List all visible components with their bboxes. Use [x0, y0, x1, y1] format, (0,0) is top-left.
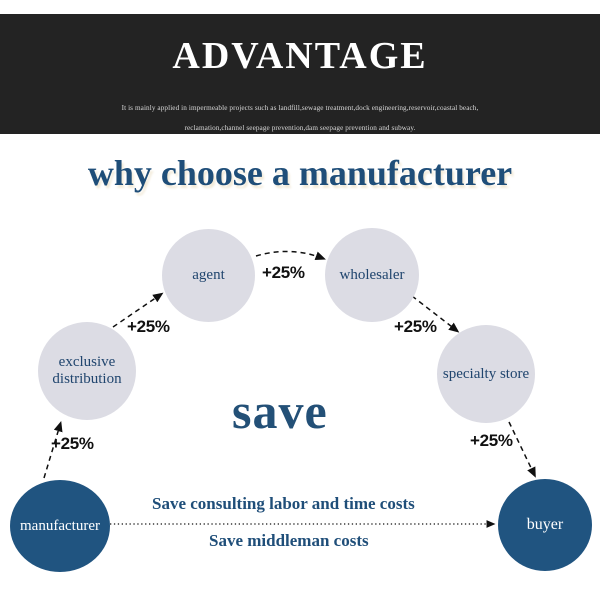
benefit-label-middleman: Save middleman costs: [209, 531, 369, 551]
page-title: ADVANTAGE: [0, 34, 600, 78]
markup-label-agent-wholesaler: +25%: [262, 263, 305, 283]
benefit-label-consulting: Save consulting labor and time costs: [152, 494, 415, 514]
markup-label-exclusive-agent: +25%: [127, 317, 170, 337]
node-specialty-store[interactable]: specialty store: [437, 325, 535, 423]
markup-label-manufacturer-exclusive: +25%: [51, 434, 94, 454]
node-agent[interactable]: agent: [162, 229, 255, 322]
node-buyer[interactable]: buyer: [498, 479, 592, 571]
header-subtitle-line-2: reclamation,channel seepage prevention,d…: [50, 118, 550, 138]
markup-label-wholesaler-specialty: +25%: [394, 317, 437, 337]
node-manufacturer[interactable]: manufacturer: [10, 480, 110, 572]
markup-label-specialty-buyer: +25%: [470, 431, 513, 451]
infographic-page: ADVANTAGE It is mainly applied in imperm…: [0, 0, 600, 600]
section-heading: why choose a manufacturer: [0, 152, 600, 194]
node-exclusive-distribution[interactable]: exclusive distribution: [38, 322, 136, 420]
header-subtitle-line-1: It is mainly applied in impermeable proj…: [50, 98, 550, 118]
arrow-agent-to-wholesaler: [256, 251, 322, 258]
save-highlight: save: [232, 382, 328, 440]
header-banner: ADVANTAGE It is mainly applied in imperm…: [0, 14, 600, 134]
header-subtitle: It is mainly applied in impermeable proj…: [50, 98, 550, 138]
node-wholesaler[interactable]: wholesaler: [325, 228, 419, 322]
